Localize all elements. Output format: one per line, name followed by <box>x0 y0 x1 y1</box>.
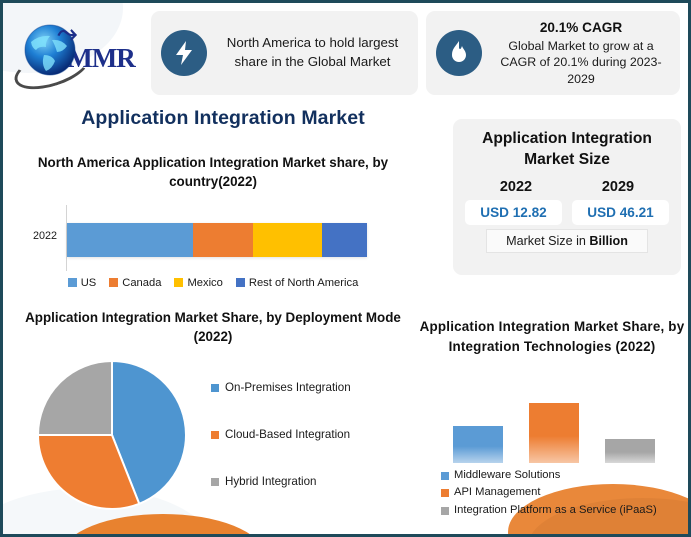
market-size-value-2029: USD 46.21 <box>572 200 669 225</box>
legend-item: Integration Platform as a Service (iPaaS… <box>441 502 685 520</box>
market-size-year-2029: 2029 <box>567 179 669 195</box>
legend-label: Canada <box>122 277 161 289</box>
legend-item: Canada <box>109 277 161 289</box>
header-card-cagr-text: 20.1% CAGR Global Market to grow at a CA… <box>492 18 670 88</box>
header-card-region: North America to hold largest share in t… <box>151 11 418 95</box>
page-title: Application Integration Market <box>23 107 423 130</box>
legend-item: Rest of North America <box>236 277 358 289</box>
pie-holder <box>17 355 207 515</box>
header: ⤳ MMR North America to hold largest shar… <box>11 11 680 95</box>
chart-legend-integration-technologies: Middleware SolutionsAPI ManagementIntegr… <box>419 467 685 520</box>
bar-segment-0 <box>67 223 193 257</box>
flame-icon <box>436 30 482 76</box>
axis-label-2022: 2022 <box>33 230 57 242</box>
market-size-unit-prefix: Market Size in <box>506 234 589 248</box>
legend-swatch <box>236 278 245 287</box>
legend-swatch <box>211 384 219 392</box>
legend-label: Rest of North America <box>249 277 358 289</box>
lightning-bolt-icon <box>161 30 207 76</box>
legend-label: Integration Platform as a Service (iPaaS… <box>454 502 657 520</box>
legend-item: Mexico <box>174 277 222 289</box>
chart-north-america-share: North America Application Integration Ma… <box>17 153 409 289</box>
brand-logo: ⤳ MMR <box>11 11 143 95</box>
legend-swatch <box>441 489 449 497</box>
legend-item: API Management <box>441 484 685 502</box>
market-size-years: 2022 2029 <box>465 179 669 195</box>
legend-label: On-Premises Integration <box>225 381 351 394</box>
bar-segment-1 <box>193 223 253 257</box>
market-size-title: Application Integration Market Size <box>465 129 669 170</box>
chart-integration-technologies: Application Integration Market Share, by… <box>419 317 685 520</box>
market-size-year-2022: 2022 <box>465 179 567 195</box>
globe-icon: ⤳ <box>19 22 81 84</box>
market-size-unit-value: Billion <box>589 234 627 248</box>
legend-label: Mexico <box>187 277 222 289</box>
column-bars <box>453 371 655 463</box>
chart-title-deployment-mode: Application Integration Market Share, by… <box>17 308 409 347</box>
legend-label: US <box>81 277 97 289</box>
legend-swatch <box>68 278 77 287</box>
legend-item: Hybrid Integration <box>211 458 409 505</box>
stacked-bar <box>67 223 367 257</box>
chart-legend-north-america: USCanadaMexicoRest of North America <box>17 277 409 289</box>
legend-swatch <box>441 507 449 515</box>
cagr-headline: 20.1% CAGR <box>492 18 670 37</box>
market-size-value-2022: USD 12.82 <box>465 200 562 225</box>
chart-deployment-mode: Application Integration Market Share, by… <box>17 308 409 515</box>
legend-item: Cloud-Based Integration <box>211 411 409 458</box>
chart-plot-north-america: 2022 <box>17 205 409 271</box>
column-bar-0 <box>453 426 503 463</box>
legend-label: API Management <box>454 484 540 502</box>
header-card-region-text: North America to hold largest share in t… <box>217 34 408 72</box>
legend-label: Middleware Solutions <box>454 467 560 485</box>
cagr-description: Global Market to grow at a CAGR of 20.1%… <box>492 38 670 88</box>
legend-swatch <box>441 472 449 480</box>
legend-label: Cloud-Based Integration <box>225 428 350 441</box>
legend-swatch <box>211 431 219 439</box>
logo-accent: ⤳ <box>57 20 77 48</box>
bar-segment-3 <box>322 223 367 257</box>
chart-plot-integration-technologies <box>419 371 685 463</box>
header-card-cagr: 20.1% CAGR Global Market to grow at a CA… <box>426 11 680 95</box>
legend-item: Middleware Solutions <box>441 467 685 485</box>
legend-swatch <box>109 278 118 287</box>
column-bar-1 <box>529 403 579 463</box>
legend-swatch <box>174 278 183 287</box>
chart-body-deployment-mode: On-Premises IntegrationCloud-Based Integ… <box>17 355 409 515</box>
market-size-values: USD 12.82 USD 46.21 <box>465 200 669 225</box>
legend-item: US <box>68 277 97 289</box>
legend-item: On-Premises Integration <box>211 364 409 411</box>
bar-segment-2 <box>253 223 322 257</box>
infographic-page: ⤳ MMR North America to hold largest shar… <box>0 0 691 537</box>
legend-swatch <box>211 478 219 486</box>
market-size-card: Application Integration Market Size 2022… <box>453 119 681 275</box>
market-size-unit-note: Market Size in Billion <box>486 229 648 253</box>
column-bar-2 <box>605 439 655 463</box>
chart-title-north-america: North America Application Integration Ma… <box>17 153 409 192</box>
pie-chart <box>32 355 192 515</box>
pie-slice-2 <box>38 361 112 435</box>
chart-title-integration-technologies: Application Integration Market Share, by… <box>419 317 685 357</box>
chart-legend-deployment-mode: On-Premises IntegrationCloud-Based Integ… <box>207 364 409 505</box>
decorative-swoosh-bottom-orange <box>63 514 263 537</box>
legend-label: Hybrid Integration <box>225 475 317 488</box>
